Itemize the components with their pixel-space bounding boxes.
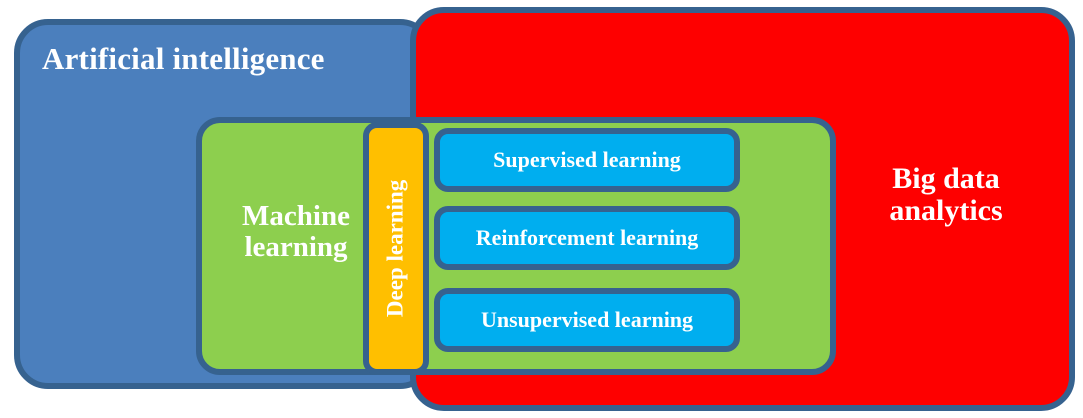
region-big-data-analytics-label: Big data analytics [841,163,1051,228]
machine-learning-label-line-2: learning [216,232,376,263]
region-deep-learning-label: Deep learning [384,180,409,317]
machine-learning-label-line-1: Machine [216,201,376,232]
diagram-canvas: Artificial intelligence Big data analyti… [0,0,1083,418]
region-reinforcement-learning[interactable]: Reinforcement learning [434,206,740,270]
reinforcement-learning-label: Reinforcement learning [476,226,699,250]
supervised-learning-label: Supervised learning [493,148,681,172]
region-supervised-learning[interactable]: Supervised learning [434,128,740,192]
region-machine-learning-label: Machine learning [216,201,376,264]
unsupervised-learning-label: Unsupervised learning [481,308,693,332]
region-deep-learning[interactable]: Deep learning [363,122,429,375]
big-data-label-line-1: Big data [841,163,1051,195]
region-unsupervised-learning[interactable]: Unsupervised learning [434,288,740,352]
big-data-label-line-2: analytics [841,195,1051,227]
region-artificial-intelligence-label: Artificial intelligence [42,42,325,75]
